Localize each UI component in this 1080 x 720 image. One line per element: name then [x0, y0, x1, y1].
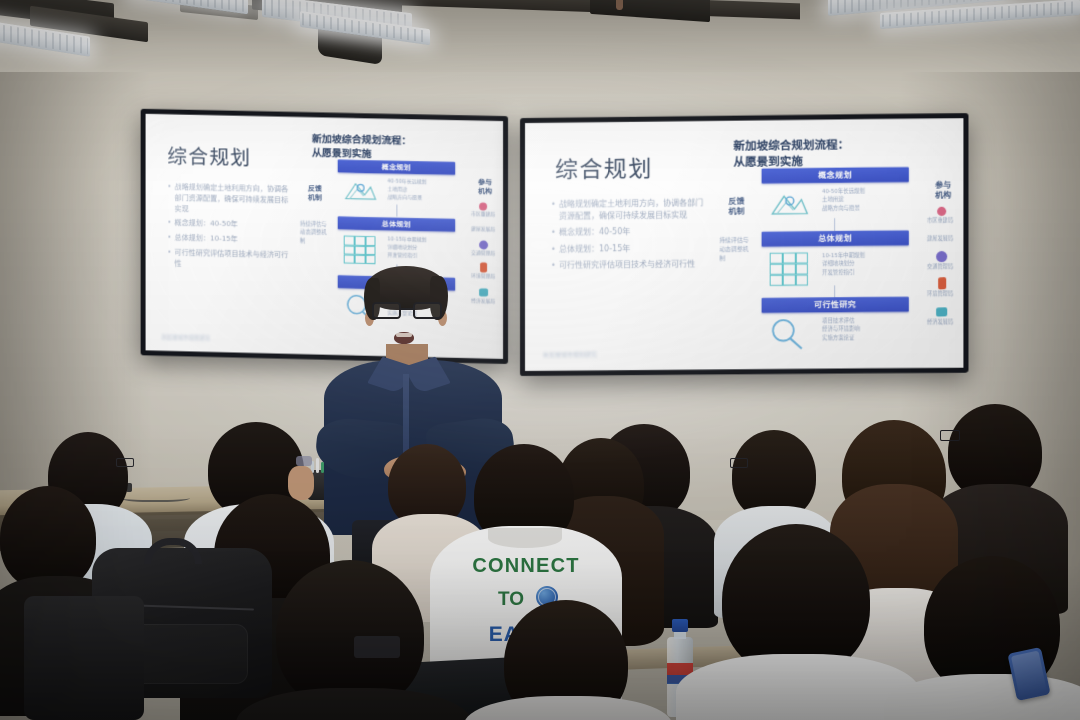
flow-right-item: 经济发展局 — [927, 318, 961, 326]
list-item: 总体规划：10-15年 — [167, 233, 294, 247]
eyeglasses-icon — [296, 456, 312, 466]
grid-icon — [344, 235, 376, 264]
list-item: 总体规划：10-15年 — [551, 242, 703, 255]
audience-member — [470, 600, 660, 720]
flow-left-label: 反馈 机制 — [302, 185, 328, 203]
flow-right-label: 参与 机构 — [471, 178, 499, 196]
classroom-photo-scene: 综合规划 新加坡综合规划流程： 从愿景到实施 战略规划确定土地利用方向，协调各部… — [0, 0, 1080, 720]
tshirt-collar — [488, 528, 562, 548]
flow-left-label-line2: 机制 — [302, 193, 328, 202]
eyeglasses-icon — [730, 458, 748, 468]
audience-member — [246, 560, 456, 720]
flow-left-label-line1: 反馈 — [721, 197, 751, 207]
slide-heading-line1: 新加坡综合规划流程： — [733, 138, 849, 155]
flow-step-desc: 10-15年中期规划 详细地块划分 开发管控指引 — [387, 236, 449, 261]
list-item: 概念规划：40-50年 — [551, 226, 703, 240]
flow-step-desc: 40-50年长远规划 土地用途 战略方向与愿景 — [387, 179, 449, 204]
slide-heading: 新加坡综合规划流程： 从愿景到实施 — [312, 133, 411, 163]
list-item: 概念规划：40-50年 — [167, 218, 294, 231]
flow-right-label-line2: 机构 — [927, 191, 959, 201]
agency-icon — [938, 277, 946, 289]
flow-step-box: 总体规划 — [762, 230, 909, 246]
flow-right-item: 市区重建局 — [471, 211, 501, 219]
flow-left-sub: 持续评估与动态调整机制 — [719, 237, 751, 264]
chair-back — [24, 596, 144, 720]
flow-diagram: 反馈 机制 持续评估与动态调整机制 参与 机构 市区重建局 建屋发展局 交通管理… — [721, 166, 959, 355]
flow-connector — [834, 285, 835, 297]
flow-right-item: 环境管理局 — [927, 290, 961, 298]
right-screen-panel: 综合规划 新加坡综合规划流程： 从愿景到实施 战略规划确定土地利用方向，协调各部… — [525, 118, 963, 371]
flow-left-label: 反馈 机制 — [721, 197, 751, 217]
flow-step-desc: 40-50年长远规划 土地用途 战略方向与愿景 — [822, 187, 901, 213]
flow-connector — [396, 205, 397, 217]
flow-connector — [834, 218, 835, 231]
grid-icon — [770, 252, 808, 285]
flow-step-desc: 10-15年中期规划 详细地块划分 开发管控指引 — [822, 252, 901, 278]
map-icon — [770, 189, 810, 220]
slide-footer: 新加坡城市规划研究 — [161, 333, 210, 342]
magnifier-icon — [768, 318, 806, 350]
slide-heading: 新加坡综合规划流程： 从愿景到实施 — [733, 138, 849, 171]
audience-member — [690, 524, 904, 720]
list-item: 可行性研究评估项目技术与经济可行性 — [551, 259, 703, 272]
flow-right-item: 建屋发展局 — [471, 226, 501, 234]
flow-right-label: 参与 机构 — [927, 181, 959, 201]
flow-step-box: 概念规划 — [338, 160, 455, 175]
sprinkler-head — [616, 0, 623, 10]
bottle-cap — [672, 619, 688, 632]
right-presentation-display[interactable]: 综合规划 新加坡综合规划流程： 从愿景到实施 战略规划确定土地利用方向，协调各部… — [520, 113, 968, 376]
agency-icon — [937, 207, 946, 216]
tshirt-text-line1: CONNECT — [448, 556, 604, 576]
agency-icon — [479, 240, 488, 249]
flow-step-box: 总体规划 — [338, 216, 455, 231]
flow-right-label-line1: 参与 — [927, 181, 959, 191]
presenter-mouth — [394, 332, 414, 344]
slide-bullet-list: 战略规划确定土地利用方向，协调各部门资源配置，确保可持续发展目标实现 概念规划：… — [551, 197, 703, 276]
slide-footer: 新加坡城市规划研究 — [543, 349, 597, 358]
eyeglasses-icon — [354, 636, 400, 658]
slide-title: 综合规划 — [555, 150, 653, 185]
flow-right-item: 建屋发展局 — [927, 235, 961, 243]
agency-icon — [936, 307, 947, 316]
slide-bullet-list: 战略规划确定土地利用方向，协调各部门资源配置，确保可持续发展目标实现 概念规划：… — [167, 182, 294, 276]
agency-icon — [936, 251, 947, 262]
list-item: 战略规划确定土地利用方向，协调各部门资源配置，确保可持续发展目标实现 — [551, 197, 703, 223]
flow-right-item: 交通管理局 — [471, 250, 501, 258]
audience-member — [884, 556, 1080, 720]
slide-title: 综合规划 — [167, 140, 251, 171]
agency-icon — [479, 202, 487, 210]
flow-step-box: 概念规划 — [762, 167, 909, 184]
flow-right-item: 交通管理局 — [927, 263, 961, 271]
list-item: 战略规划确定土地利用方向，协调各部门资源配置，确保可持续发展目标实现 — [167, 182, 294, 217]
flow-step-box: 可行性研究 — [762, 297, 909, 313]
list-item: 可行性研究评估项目技术与经济可行性 — [167, 247, 294, 271]
eyeglasses-icon — [116, 458, 134, 467]
flow-right-label-line2: 机构 — [471, 187, 499, 196]
display-wall: 综合规划 新加坡综合规划流程： 从愿景到实施 战略规划确定土地利用方向，协调各部… — [141, 111, 969, 385]
map-icon — [344, 178, 378, 205]
flow-step-desc: 项目技术评估 经济与环境影响 实施方案论证 — [822, 317, 901, 343]
flow-left-label-line2: 机制 — [721, 207, 751, 217]
eyeglasses-icon — [372, 302, 442, 319]
slide-content-right: 综合规划 新加坡综合规划流程： 从愿景到实施 战略规划确定土地利用方向，协调各部… — [525, 118, 963, 371]
flow-left-sub: 持续评估与动态调整机制 — [300, 221, 328, 247]
flow-right-item: 市区重建局 — [927, 217, 961, 225]
